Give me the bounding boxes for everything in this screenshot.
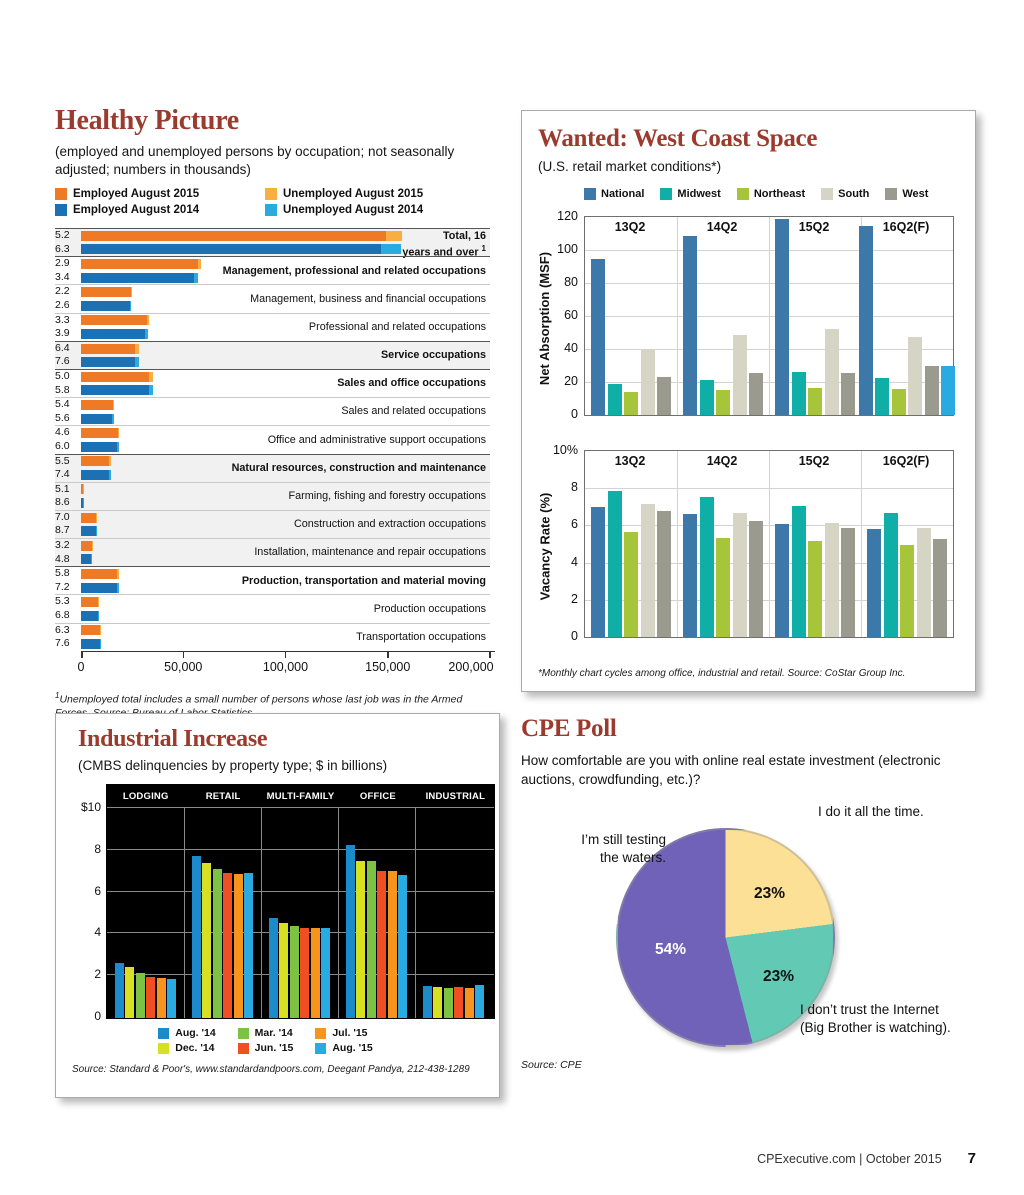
legend-column: Mar. '14Jun. '15 [238, 1027, 294, 1057]
bar [657, 377, 671, 415]
cpe-pie-chart: I do it all the time. I’m still testingt… [521, 803, 981, 1073]
bar-segment-unemployed [130, 301, 131, 311]
row-occupation-label: Management, professional and related occ… [223, 257, 486, 284]
healthy-picture-x-axis: 050,000100,000150,000200,000 [81, 651, 495, 685]
bar [700, 380, 714, 415]
stacked-bar [81, 456, 111, 466]
stacked-bar [81, 344, 139, 354]
bar [792, 506, 806, 637]
row-rate-2015: 5.4 [55, 398, 79, 412]
stacked-bar [81, 583, 119, 593]
bar-segment-unemployed [135, 357, 139, 367]
industrial-plot-area [107, 807, 494, 1018]
industrial-legend: Aug. '14Dec. '14Mar. '14Jun. '15Jul. '15… [68, 1027, 485, 1057]
x-axis-tick-label: 150,000 [365, 660, 410, 674]
bar [244, 873, 253, 1018]
bar-segment-employed [81, 287, 131, 297]
y-axis-tick-label: 0 [538, 407, 578, 421]
bar-segment-employed [81, 231, 386, 241]
bar [808, 388, 822, 415]
row-rate-2015: 3.3 [55, 314, 79, 328]
row-occupation-label: Farming, fishing and forestry occupation… [289, 483, 486, 510]
row-plot: Construction and extraction occupations [81, 511, 490, 538]
healthy-legend-label: Employed August 2014 [73, 204, 199, 216]
industrial-footnote: Source: Standard & Poor's, www.standarda… [68, 1063, 485, 1077]
legend-swatch-icon [158, 1043, 169, 1054]
wanted-legend-item: South [821, 188, 869, 200]
bar [892, 389, 906, 415]
healthy-chart-row: 6.47.6Service occupations [55, 341, 490, 369]
bar [657, 511, 671, 637]
bar [454, 987, 463, 1018]
x-axis-tick-label: 0 [78, 660, 85, 674]
pie-value-right: 23% [763, 968, 794, 986]
bar-segment-unemployed [198, 259, 201, 269]
y-axis-tick-label: 120 [538, 209, 578, 223]
y-axis-tick-label: 8 [538, 480, 578, 494]
row-plot: Farming, fishing and forestry occupation… [81, 483, 490, 510]
bar [867, 529, 881, 637]
wanted-legend-label: Northeast [754, 188, 805, 200]
stacked-bar [81, 385, 153, 395]
row-rate-2015: 5.8 [55, 567, 79, 581]
bar [125, 967, 134, 1018]
bar [683, 236, 697, 415]
group-separator [261, 807, 262, 1018]
bar-segment-unemployed [145, 329, 148, 339]
row-rate-2015: 2.2 [55, 285, 79, 299]
pie-label-left: I’m still testingthe waters. [521, 831, 666, 867]
row-plot: Service occupations [81, 342, 490, 369]
wanted-legend-item: National [584, 188, 644, 200]
bar [475, 985, 484, 1018]
industrial-legend-label: Mar. '14 [255, 1027, 293, 1039]
row-occupation-label: Management, business and financial occup… [250, 285, 486, 312]
y-axis-tick-label: 40 [538, 341, 578, 355]
gridline [107, 891, 494, 892]
cpe-source: Source: CPE [521, 1058, 582, 1072]
industrial-legend-label: Aug. '14 [175, 1027, 215, 1039]
bar-segment-employed [81, 639, 100, 649]
stacked-bar [81, 597, 99, 607]
industrial-column-header: OFFICE [339, 785, 416, 807]
bar [733, 335, 747, 415]
bar [700, 497, 714, 637]
bar-segment-employed [81, 372, 149, 382]
healthy-legend-item: Unemployed August 2015 [265, 188, 475, 200]
panel-healthy-picture: Healthy Picture (employed and unemployed… [55, 105, 495, 700]
row-rate-2014: 8.7 [55, 524, 79, 538]
industrial-legend-label: Jun. '15 [255, 1042, 294, 1054]
bar-segment-unemployed [386, 231, 403, 241]
bar [641, 504, 655, 637]
plot-area [584, 216, 954, 416]
row-plot: Installation, maintenance and repair occ… [81, 539, 490, 566]
healthy-picture-legend: Employed August 2015Unemployed August 20… [55, 188, 475, 220]
row-occupation-label: Sales and related occupations [341, 398, 486, 425]
panel-wanted-west-coast-space: Wanted: West Coast Space (U.S. retail ma… [521, 110, 976, 692]
bar [367, 861, 376, 1018]
bar-segment-employed [81, 344, 135, 354]
bar [356, 861, 365, 1018]
net-absorption-chart: Net Absorption (MSF) 02040608010012013Q2… [538, 206, 963, 430]
bar [825, 329, 839, 415]
bar-segment-unemployed [109, 470, 111, 480]
row-rate-2014: 3.4 [55, 271, 79, 285]
healthy-chart-row: 5.57.4Natural resources, construction an… [55, 454, 490, 482]
healthy-chart-row: 2.93.4Management, professional and relat… [55, 256, 490, 284]
y-axis-tick-label: 2 [67, 967, 101, 981]
healthy-chart-row: 7.08.7Construction and extraction occupa… [55, 510, 490, 538]
bar [941, 366, 955, 416]
bar-segment-unemployed [112, 414, 114, 424]
stacked-bar [81, 231, 402, 241]
row-rate-2014: 7.4 [55, 468, 79, 482]
row-rate-2014: 3.9 [55, 327, 79, 341]
row-occupation-label: Production, transportation and material … [242, 567, 486, 594]
stacked-bar [81, 357, 139, 367]
bar-segment-unemployed [118, 428, 120, 438]
stacked-bar [81, 541, 92, 551]
bar-segment-employed [81, 428, 118, 438]
industrial-legend-item: Aug. '15 [315, 1042, 372, 1054]
bar [192, 856, 201, 1018]
legend-swatch-icon [315, 1043, 326, 1054]
healthy-legend-item: Employed August 2014 [55, 204, 265, 216]
bar-segment-employed [81, 597, 98, 607]
bar [346, 845, 355, 1018]
bar [213, 869, 222, 1018]
bar-segment-unemployed [194, 273, 198, 283]
bar [925, 366, 939, 416]
industrial-column-header: INDUSTRIAL [417, 785, 494, 807]
bar [279, 923, 288, 1018]
bar [608, 384, 622, 415]
group-label: 13Q2 [615, 220, 646, 234]
bar-segment-unemployed [131, 287, 132, 297]
x-axis-tick [387, 651, 389, 658]
wanted-legend-label: Midwest [677, 188, 720, 200]
row-plot: Transportation occupations [81, 624, 490, 651]
healthy-chart-row: 5.36.8Production occupations [55, 594, 490, 622]
footer-site: CPExecutive.com | October 2015 [757, 1152, 942, 1166]
row-rate-2015: 5.5 [55, 455, 79, 469]
row-rate-2014: 2.6 [55, 299, 79, 313]
y-axis-tick-label: 6 [67, 884, 101, 898]
bar [146, 977, 155, 1018]
row-occupation-label: Production occupations [374, 595, 486, 622]
industrial-subtitle: (CMBS delinquencies by property type; $ … [68, 757, 485, 775]
bar [398, 875, 407, 1018]
row-rate-2014: 7.6 [55, 355, 79, 369]
row-rate-2014: 5.6 [55, 412, 79, 426]
bar [423, 986, 432, 1018]
magazine-page: Healthy Picture (employed and unemployed… [0, 0, 1024, 1195]
healthy-chart-row: 5.87.2Production, transportation and mat… [55, 566, 490, 594]
row-plot: Sales and office occupations [81, 370, 490, 397]
row-rate-2015: 6.4 [55, 342, 79, 356]
x-axis-tick [183, 651, 185, 658]
wanted-legend-label: National [601, 188, 644, 200]
healthy-chart-row: 5.26.3Total, 16years and over 1 [55, 228, 490, 256]
y-axis-tick-label: 8 [67, 842, 101, 856]
bar [608, 491, 622, 637]
group-label: 14Q2 [707, 220, 738, 234]
legend-swatch-icon [737, 188, 749, 200]
healthy-legend-item: Employed August 2015 [55, 188, 265, 200]
wanted-legend-item: West [885, 188, 928, 200]
healthy-picture-title: Healthy Picture [55, 105, 495, 137]
stacked-bar [81, 287, 132, 297]
stacked-bar [81, 513, 97, 523]
row-rate-2015: 6.3 [55, 624, 79, 638]
healthy-picture-chart: 5.26.3Total, 16years and over 12.93.4Man… [55, 228, 490, 651]
bar-segment-employed [81, 273, 194, 283]
panel-cpe-poll: CPE Poll How comfortable are you with on… [521, 715, 981, 1105]
group-separator [677, 451, 678, 637]
wanted-title: Wanted: West Coast Space [538, 125, 963, 153]
bar-segment-employed [81, 357, 135, 367]
row-rate-2014: 4.8 [55, 553, 79, 567]
legend-swatch-icon [238, 1028, 249, 1039]
pie-value-top: 23% [754, 885, 785, 903]
vacancy-rate-chart: Vacancy Rate (%) 0246810%13Q214Q215Q216Q… [538, 440, 963, 652]
industrial-column-header: LODGING [107, 785, 184, 807]
bar-segment-employed [81, 569, 117, 579]
bar [841, 528, 855, 637]
legend-swatch-icon [265, 188, 277, 200]
group-label: 16Q2(F) [883, 220, 930, 234]
bar-segment-unemployed [96, 513, 97, 523]
bar-segment-employed [81, 414, 112, 424]
wanted-legend-label: South [838, 188, 869, 200]
bar [917, 528, 931, 637]
bar [808, 541, 822, 637]
bar [311, 928, 320, 1018]
row-occupation-label: Transportation occupations [356, 624, 486, 651]
row-occupation-label: Professional and related occupations [309, 314, 486, 341]
bar-segment-employed [81, 301, 130, 311]
footer-page-number: 7 [968, 1150, 976, 1167]
bar-segment-unemployed [100, 639, 102, 649]
bar [875, 378, 889, 415]
bar [775, 524, 789, 637]
bar [223, 873, 232, 1018]
bar-segment-unemployed [98, 597, 99, 607]
bar-segment-unemployed [149, 385, 153, 395]
stacked-bar [81, 428, 119, 438]
bar-segment-employed [81, 456, 109, 466]
bar-segment-employed [81, 526, 96, 536]
bar [749, 373, 763, 415]
row-occupation-label: Installation, maintenance and repair occ… [254, 539, 486, 566]
group-label: 13Q2 [615, 454, 646, 468]
row-plot: Sales and related occupations [81, 398, 490, 425]
bar-segment-unemployed [149, 372, 153, 382]
stacked-bar [81, 554, 92, 564]
bar [733, 513, 747, 637]
bar [859, 226, 873, 415]
bar [775, 219, 789, 415]
bar-segment-employed [81, 244, 381, 254]
bar [933, 539, 947, 637]
bar [444, 988, 453, 1018]
healthy-chart-row: 5.45.6Sales and related occupations [55, 397, 490, 425]
healthy-chart-row: 6.37.6Transportation occupations [55, 623, 490, 651]
stacked-bar [81, 526, 97, 536]
bar [433, 987, 442, 1018]
bar [234, 874, 243, 1018]
bar-segment-employed [81, 385, 149, 395]
bar-segment-unemployed [117, 583, 120, 593]
pie-label-bottom: I don’t trust the Internet(Big Brother i… [800, 1001, 951, 1037]
page-footer: CPExecutive.com | October 2015 7 [757, 1150, 976, 1167]
row-occupation-label: Natural resources, construction and main… [232, 455, 486, 482]
bar-segment-employed [81, 315, 147, 325]
bar [641, 349, 655, 415]
wanted-footnote: *Monthly chart cycles among office, indu… [538, 667, 958, 681]
bar [290, 926, 299, 1018]
bar [269, 918, 278, 1018]
x-axis-tick [489, 651, 491, 658]
bar [884, 513, 898, 637]
row-occupation-label: Construction and extraction occupations [294, 511, 486, 538]
y-axis-tick-label: 2 [538, 592, 578, 606]
healthy-chart-row: 4.66.0Office and administrative support … [55, 425, 490, 453]
row-rate-2015: 5.1 [55, 483, 79, 497]
row-occupation-label: Office and administrative support occupa… [268, 426, 486, 453]
row-rate-2014: 5.8 [55, 384, 79, 398]
group-label: 14Q2 [707, 454, 738, 468]
legend-column: Aug. '14Dec. '14 [158, 1027, 215, 1057]
industrial-legend-label: Jul. '15 [332, 1027, 367, 1039]
row-occupation-label: Total, 16years and over 1 [402, 229, 486, 257]
stacked-bar [81, 259, 201, 269]
y-axis-tick-label: 0 [538, 629, 578, 643]
y-axis-tick-label: 10% [538, 443, 578, 457]
legend-swatch-icon [265, 204, 277, 216]
bar [624, 532, 638, 637]
group-label: 15Q2 [799, 220, 830, 234]
row-plot: Management, business and financial occup… [81, 285, 490, 312]
wanted-subtitle: (U.S. retail market conditions*) [538, 158, 963, 176]
bar-segment-employed [81, 400, 113, 410]
bar [624, 392, 638, 415]
stacked-bar [81, 639, 101, 649]
wanted-legend-item: Midwest [660, 188, 720, 200]
wanted-legend-label: West [902, 188, 928, 200]
y-axis-tick-label: 6 [538, 517, 578, 531]
bar-segment-employed [81, 541, 92, 551]
bar [115, 963, 124, 1018]
wanted-legend-item: Northeast [737, 188, 805, 200]
legend-swatch-icon [55, 188, 67, 200]
group-separator [415, 807, 416, 1018]
x-axis-tick [81, 651, 83, 658]
group-separator [184, 807, 185, 1018]
bar-segment-employed [81, 625, 100, 635]
healthy-chart-row: 3.24.8Installation, maintenance and repa… [55, 538, 490, 566]
bar-segment-unemployed [147, 315, 149, 325]
gridline [107, 849, 494, 850]
row-rate-2014: 6.8 [55, 609, 79, 623]
group-separator [677, 217, 678, 415]
bar-segment-employed [81, 513, 96, 523]
row-plot: Management, professional and related occ… [81, 257, 490, 284]
y-axis-tick-label: 20 [538, 374, 578, 388]
x-axis-tick-label: 50,000 [164, 660, 202, 674]
pie-label-top: I do it all the time. [818, 803, 924, 821]
bar [683, 514, 697, 637]
row-occupation-label: Sales and office occupations [337, 370, 486, 397]
y-axis-tick-label: 4 [67, 925, 101, 939]
industrial-column-header: MULTI-FAMILY [262, 785, 339, 807]
bar [465, 988, 474, 1018]
stacked-bar [81, 569, 119, 579]
cpe-poll-title: CPE Poll [521, 715, 981, 743]
legend-column: Jul. '15Aug. '15 [315, 1027, 372, 1057]
vacancy-rate-y-axis-label: Vacancy Rate (%) [536, 440, 554, 652]
panel-industrial-increase: Industrial Increase (CMBS delinquencies … [55, 713, 500, 1098]
stacked-bar [81, 244, 401, 254]
bar-segment-unemployed [100, 625, 101, 635]
y-axis-tick-label: 80 [538, 275, 578, 289]
bar [388, 871, 397, 1018]
y-axis-tick-label: 0 [67, 1009, 101, 1023]
healthy-chart-row: 5.18.6Farming, fishing and forestry occu… [55, 482, 490, 510]
row-rate-2015: 2.9 [55, 257, 79, 271]
row-plot: Professional and related occupations [81, 314, 490, 341]
bar [908, 337, 922, 415]
row-rate-2015: 5.0 [55, 370, 79, 384]
legend-swatch-icon [821, 188, 833, 200]
bar-segment-employed [81, 611, 98, 621]
group-label: 15Q2 [799, 454, 830, 468]
bar-segment-unemployed [381, 244, 401, 254]
bar-segment-unemployed [117, 569, 119, 579]
bar [157, 978, 166, 1018]
stacked-bar [81, 470, 111, 480]
row-rate-2015: 3.2 [55, 539, 79, 553]
gridline [107, 807, 494, 808]
industrial-legend-label: Aug. '15 [332, 1042, 372, 1054]
healthy-legend-label: Unemployed August 2015 [283, 188, 423, 200]
industrial-legend-label: Dec. '14 [175, 1042, 214, 1054]
healthy-legend-item: Unemployed August 2014 [265, 204, 475, 216]
group-separator [769, 217, 770, 415]
row-rate-2015: 5.3 [55, 595, 79, 609]
bar [377, 871, 386, 1018]
group-separator [769, 451, 770, 637]
group-separator [338, 807, 339, 1018]
bar [167, 979, 176, 1018]
row-rate-2014: 7.6 [55, 637, 79, 651]
bar-segment-employed [81, 470, 109, 480]
bar [825, 523, 839, 637]
stacked-bar [81, 301, 131, 311]
bar [321, 928, 330, 1018]
bar [300, 928, 309, 1018]
industrial-legend-item: Aug. '14 [158, 1027, 215, 1039]
legend-swatch-icon [55, 204, 67, 216]
bar-segment-employed [81, 329, 145, 339]
legend-swatch-icon [158, 1028, 169, 1039]
x-axis-tick-label: 200,000 [448, 660, 493, 674]
bar [591, 507, 605, 637]
plot-area [584, 450, 954, 638]
pie-value-left: 54% [655, 941, 686, 959]
row-rate-2014: 7.2 [55, 581, 79, 595]
